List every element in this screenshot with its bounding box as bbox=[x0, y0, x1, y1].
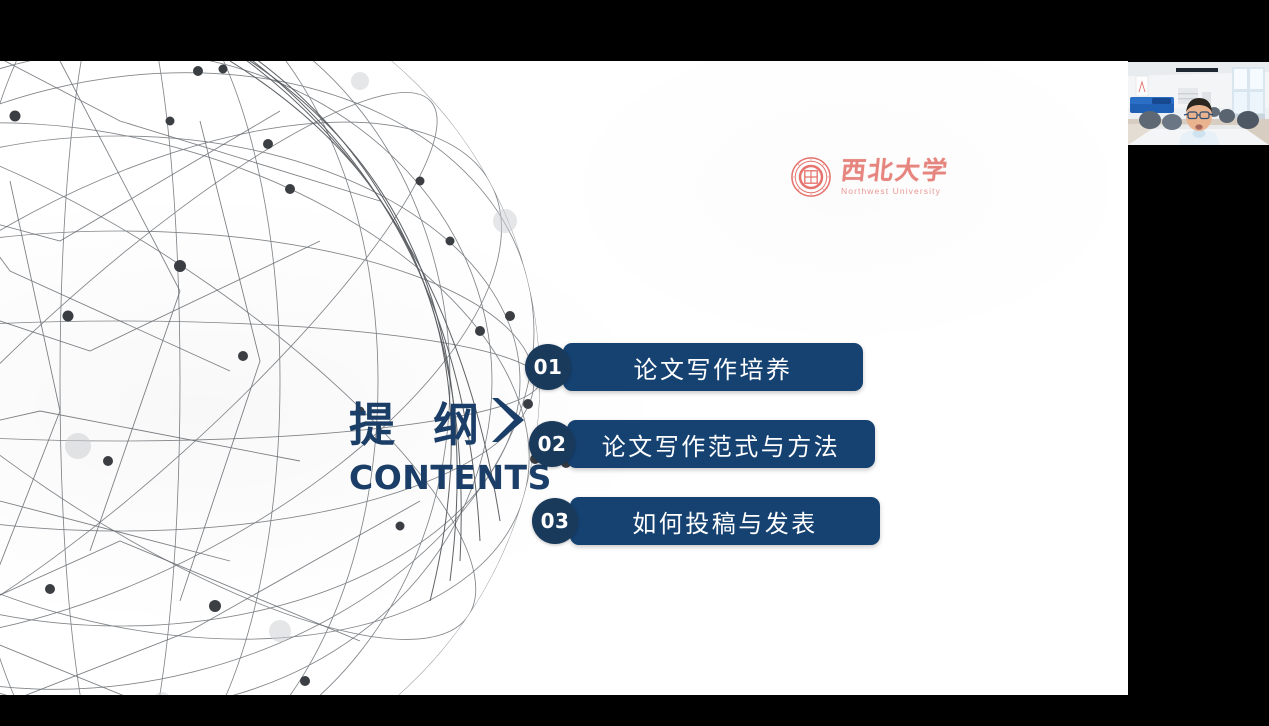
agenda-label: 如何投稿与发表 bbox=[632, 504, 818, 539]
university-logo: 西北大学 Northwest University bbox=[790, 149, 950, 205]
agenda-item-02[interactable]: 02 论文写作范式与方法 bbox=[529, 420, 875, 468]
webcam-frame bbox=[1128, 62, 1269, 145]
agenda-item-01[interactable]: 01 论文写作培养 bbox=[525, 343, 863, 391]
heading-cn-row: 提 纲 bbox=[349, 397, 529, 452]
university-seal-icon bbox=[790, 156, 832, 198]
university-name-en: Northwest University bbox=[841, 186, 949, 196]
presenter-video-thumbnail[interactable] bbox=[1128, 62, 1269, 145]
agenda-number-badge: 01 bbox=[525, 344, 571, 390]
contents-heading: 提 纲 CONTENTS bbox=[349, 397, 529, 494]
agenda-label-bar: 论文写作范式与方法 bbox=[567, 420, 875, 468]
agenda-label-bar: 论文写作培养 bbox=[563, 343, 863, 391]
university-name-cn: 西北大学 bbox=[840, 158, 951, 184]
agenda-number-badge: 03 bbox=[532, 498, 578, 544]
agenda-item-03[interactable]: 03 如何投稿与发表 bbox=[532, 497, 880, 545]
agenda-number-badge: 02 bbox=[529, 421, 575, 467]
screen-share-window: 西北大学 Northwest University 提 纲 CONTENTS 0… bbox=[0, 0, 1269, 726]
heading-title-en: CONTENTS bbox=[349, 461, 529, 494]
network-globe-graphic bbox=[0, 61, 580, 695]
agenda-label-bar: 如何投稿与发表 bbox=[570, 497, 880, 545]
heading-title-cn: 提 纲 bbox=[349, 402, 490, 448]
agenda-label: 论文写作培养 bbox=[634, 350, 793, 385]
chevron-right-icon bbox=[488, 395, 530, 452]
agenda-label: 论文写作范式与方法 bbox=[602, 427, 841, 462]
presentation-slide: 西北大学 Northwest University 提 纲 CONTENTS 0… bbox=[0, 61, 1128, 695]
